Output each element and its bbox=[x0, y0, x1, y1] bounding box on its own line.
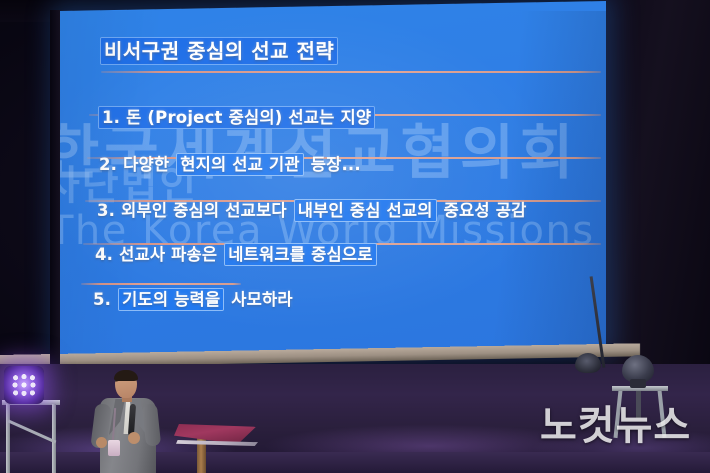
bullet-5-tail: 사모하라 bbox=[223, 289, 294, 310]
slide-title: 비서구권 중심의 선교 전략 bbox=[101, 35, 337, 64]
speaker-hair bbox=[114, 370, 138, 381]
slide-bullet-5: 5. 기도의 능력을 사모하라 bbox=[91, 286, 295, 310]
screen-left-frame bbox=[50, 10, 60, 365]
speaker-name-badge bbox=[108, 440, 120, 456]
bullet-4-emphasis: 네트워크를 중심으로 bbox=[225, 244, 375, 265]
right-wall bbox=[600, 0, 710, 380]
bullet-3-lead: 3. 외부인 중심의 선교보다 bbox=[95, 200, 295, 221]
bullet-2-emphasis: 현지의 선교 기관 bbox=[177, 154, 303, 175]
bullet-4-lead: 4. 선교사 파송은 bbox=[93, 244, 225, 265]
bullet-5-emphasis: 기도의 능력을 bbox=[119, 289, 223, 310]
divider-rule-5 bbox=[81, 283, 241, 285]
slide-title-text: 비서구권 중심의 선교 전략 bbox=[101, 38, 337, 64]
overhead-light-icon bbox=[575, 353, 601, 373]
slide-bullet-1: 1. 돈 (Project 중심의) 선교는 지양 bbox=[99, 104, 374, 128]
bullet-2-lead: 2. 다양한 bbox=[97, 154, 177, 175]
light-truss-left bbox=[2, 400, 60, 473]
slide-bullet-2: 2. 다양한 현지의 선교 기관 등장... bbox=[97, 151, 363, 175]
truss-brace bbox=[8, 420, 57, 444]
bullet-3-emphasis: 내부인 중심 선교의 bbox=[295, 200, 436, 221]
truss-leg-left bbox=[6, 404, 10, 473]
light-yoke bbox=[630, 379, 646, 388]
divider-rule-title bbox=[101, 71, 601, 73]
bullet-3-tail: 중요성 공감 bbox=[436, 200, 529, 221]
bullet-1-text: 1. 돈 (Project 중심의) 선교는 지양 bbox=[99, 107, 374, 128]
bullet-5-lead: 5. bbox=[91, 289, 119, 310]
slide-bullet-4: 4. 선교사 파송은 네트워크를 중심으로 bbox=[93, 241, 376, 265]
projection-screen: 한국세계선교협의회 사단법인 The Korea World Missions … bbox=[59, 1, 606, 359]
led-par-light-icon bbox=[4, 366, 44, 404]
slide-bullet-3: 3. 외부인 중심의 선교보다 내부인 중심 선교의 중요성 공감 bbox=[95, 197, 528, 221]
led-diode-grid bbox=[9, 371, 39, 399]
speaker-hand-left bbox=[96, 437, 107, 448]
speaker-hand-right bbox=[128, 432, 140, 444]
photo-scene: 한국세계선교협의회 사단법인 The Korea World Missions … bbox=[0, 0, 710, 473]
bullet-2-tail: 등장... bbox=[303, 154, 363, 175]
